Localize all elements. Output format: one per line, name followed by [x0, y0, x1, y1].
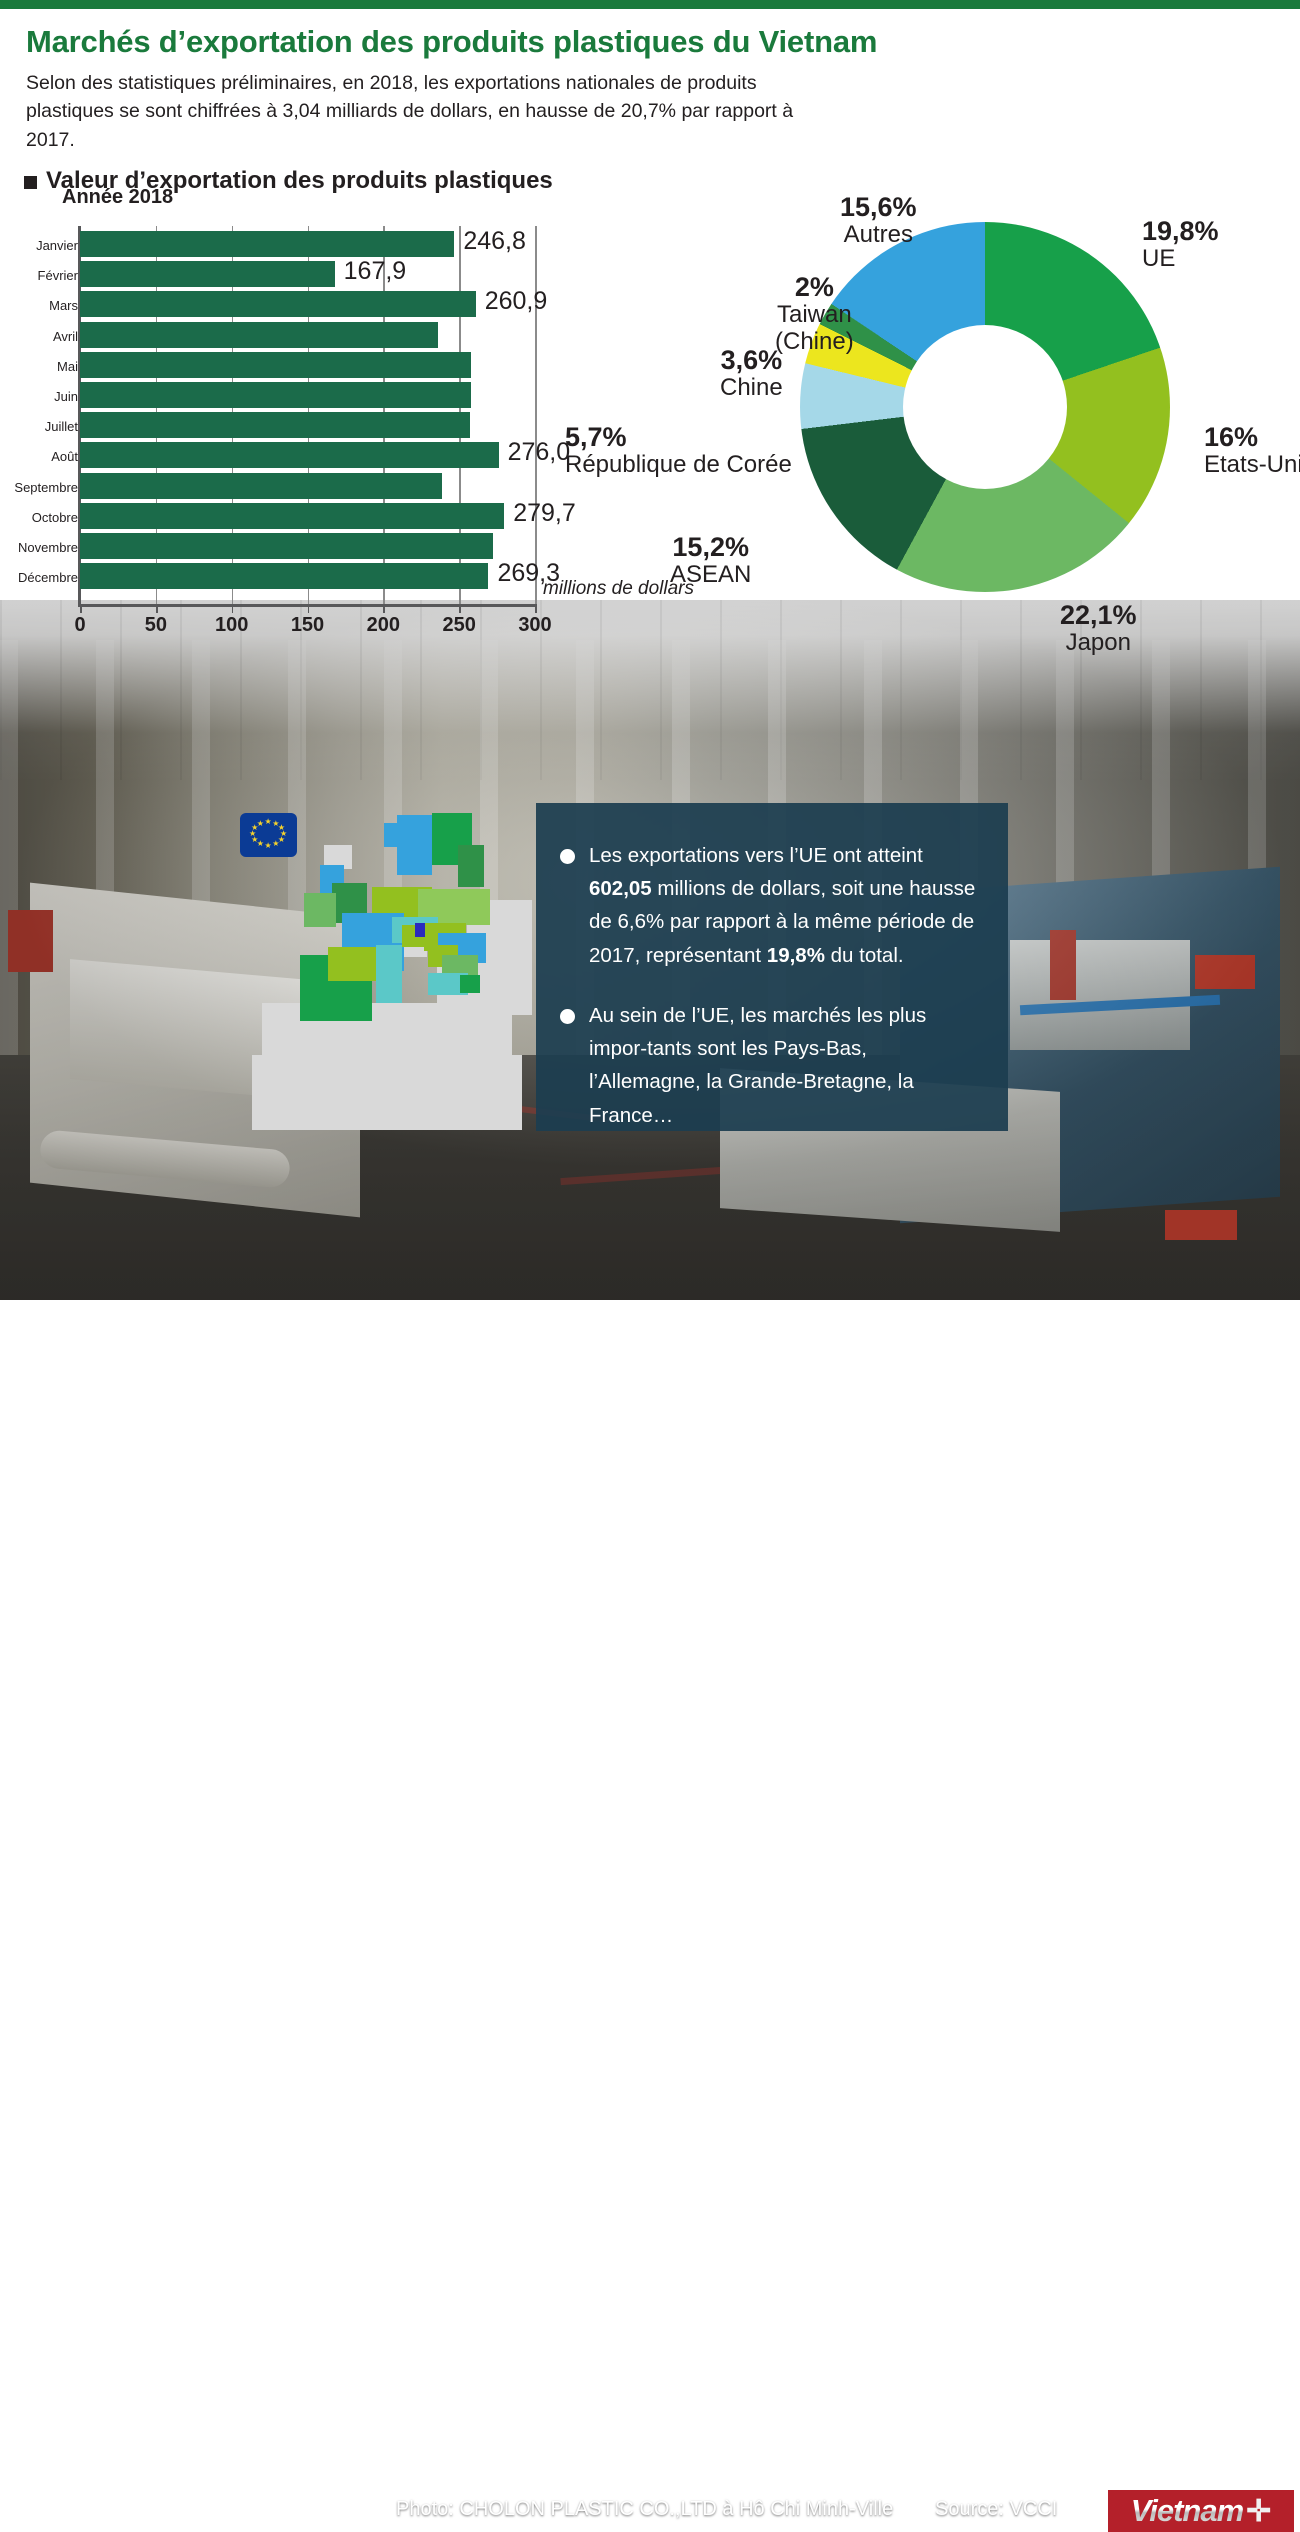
bar-category-label: Décembre	[18, 570, 78, 585]
bar-rect	[80, 261, 335, 287]
bar-chart-bar	[80, 412, 535, 438]
donut-slice-label: Autres	[840, 222, 917, 249]
bar-chart-bar	[80, 563, 535, 589]
bar-category-label: Janvier	[36, 238, 78, 253]
bar-chart-bar	[80, 473, 535, 499]
map-landmass	[252, 1055, 522, 1130]
eu-flag-star-icon: ★	[265, 818, 272, 826]
bar-rect	[80, 231, 454, 257]
donut-slice-percent: 15,2%	[670, 532, 751, 562]
donut-slice-label: Chine	[720, 375, 783, 402]
note-item: Au sein de l’UE, les marchés les plus im…	[536, 999, 1008, 1132]
bar-chart-tick	[383, 604, 385, 613]
bar-chart-plot	[80, 226, 535, 604]
bar-category-label: Septembre	[14, 480, 78, 495]
map-country	[376, 945, 402, 1003]
eu-flag-star-icon: ★	[272, 840, 279, 848]
bar-category-label: Février	[38, 268, 78, 283]
eu-flag-star-icon: ★	[265, 842, 272, 850]
bar-chart-bar	[80, 261, 535, 287]
bar-rect	[80, 473, 442, 499]
bar-category-label: Novembre	[18, 540, 78, 555]
donut-slice-percent: 15,6%	[840, 192, 917, 222]
bar-category-label: Octobre	[32, 510, 78, 525]
bar-chart-tick-label: 300	[518, 614, 551, 637]
map-country	[415, 923, 425, 937]
bar-chart-bar	[80, 291, 535, 317]
bar-chart-tick	[232, 604, 234, 613]
bar-value-label: 269,3	[497, 559, 560, 588]
bar-rect	[80, 563, 488, 589]
donut-slice-percent: 19,8%	[1142, 216, 1219, 246]
donut-center-hole	[903, 325, 1067, 489]
footer: Photo: CHOLON PLASTIC CO.,LTD à Hô Chi M…	[0, 1240, 1300, 1300]
bar-rect	[80, 503, 504, 529]
note-text: Au sein de l’UE, les marchés les plus im…	[589, 999, 982, 1132]
donut-label-group: 15,6%Autres	[840, 192, 917, 249]
logo-wordmark: Vietnam	[1131, 2493, 1243, 2529]
note-text: Les exportations vers l’UE ont atteint 6…	[589, 839, 982, 972]
bar-chart-tick-label: 200	[367, 614, 400, 637]
bar-value-label: 167,9	[344, 257, 407, 286]
note-item: Les exportations vers l’UE ont atteint 6…	[536, 839, 1008, 972]
donut-label-group: 15,2%ASEAN	[670, 532, 751, 589]
bullet-icon	[560, 1009, 575, 1024]
bar-chart-tick	[535, 604, 537, 613]
donut-slice-label: Taiwan(Chine)	[775, 302, 854, 356]
europe-map: ★★★★★★★★★★★★	[232, 805, 532, 1130]
donut-slice-label: République de Corée	[565, 452, 792, 479]
page-title: Marchés d’exportation des produits plast…	[0, 9, 1300, 59]
bar-category-label: Juin	[54, 389, 78, 404]
bar-chart-tick-label: 100	[215, 614, 248, 637]
donut-slice-label: UE	[1142, 246, 1219, 273]
photo-credit: Photo: CHOLON PLASTIC CO.,LTD à Hô Chi M…	[396, 2498, 893, 2521]
bar-chart-tick-label: 150	[291, 614, 324, 637]
bar-chart-bar	[80, 322, 535, 348]
notes-panel: Les exportations vers l’UE ont atteint 6…	[536, 803, 1008, 1131]
donut-label-group: 22,1%Japon	[1060, 600, 1137, 657]
bar-category-label: Juillet	[45, 419, 78, 434]
bar-category-label: Mai	[57, 359, 78, 374]
donut-label-group: 19,8%UE	[1142, 216, 1219, 273]
bar-rect	[80, 291, 476, 317]
donut-chart: 19,8%UE16%Etats-Uni22,1%Japon15,2%ASEAN5…	[800, 222, 1170, 592]
eu-flag-star-icon: ★	[257, 820, 264, 828]
bar-rect	[80, 322, 438, 348]
map-country	[460, 975, 480, 993]
eu-flag-icon: ★★★★★★★★★★★★	[240, 813, 297, 857]
bar-value-label: 279,7	[513, 499, 576, 528]
bar-value-label: 276,0	[508, 438, 571, 467]
source-label: Source: VCCI	[935, 2498, 1057, 2521]
donut-label-group: 5,7%République de Corée	[565, 422, 792, 479]
map-country	[328, 947, 376, 981]
donut-slice-percent: 16%	[1204, 422, 1300, 452]
bar-chart-tick-label: 0	[74, 614, 85, 637]
bar-chart-tick-label: 50	[145, 614, 167, 637]
donut-slice-percent: 22,1%	[1060, 600, 1137, 630]
bar-chart-tick-label: 250	[442, 614, 475, 637]
map-country	[384, 823, 404, 847]
donut-label-group: 2%Taiwan(Chine)	[775, 272, 854, 356]
bar-chart-tick	[459, 604, 461, 613]
logo-plus-icon: ✛	[1246, 2494, 1271, 2529]
donut-label-group: 3,6%Chine	[720, 345, 783, 402]
map-country	[458, 845, 484, 887]
bar-rect	[80, 352, 471, 378]
map-landmass	[490, 900, 532, 946]
map-country	[304, 893, 336, 927]
bar-chart-bar	[80, 503, 535, 529]
bar-rect	[80, 412, 470, 438]
bar-category-label: Avril	[53, 329, 78, 344]
bar-value-label: 246,8	[463, 227, 526, 256]
bullet-icon	[560, 849, 575, 864]
bar-rect	[80, 533, 493, 559]
vietnamplus-logo[interactable]: Vietnam ✛	[1108, 2490, 1294, 2532]
bar-chart-title: Année 2018	[62, 186, 173, 209]
donut-slice-percent: 5,7%	[565, 422, 792, 452]
bar-chart-tick	[156, 604, 158, 613]
donut-slice-percent: 2%	[775, 272, 854, 302]
bar-chart-bar	[80, 442, 535, 468]
bar-category-label: Mars	[49, 298, 78, 313]
header: Marchés d’exportation des produits plast…	[0, 9, 1300, 195]
donut-slice-percent: 3,6%	[720, 345, 783, 375]
bar-rect	[80, 442, 499, 468]
donut-slice-label: Japon	[1060, 630, 1137, 657]
bar-rect	[80, 382, 471, 408]
intro-paragraph: Selon des statistiques préliminaires, en…	[0, 59, 836, 154]
bar-chart-bar	[80, 352, 535, 378]
bar-chart-bar	[80, 382, 535, 408]
top-accent-bar	[0, 0, 1300, 9]
bar-category-label: Août	[51, 449, 78, 464]
bar-chart-tick	[80, 604, 82, 613]
bar-chart-tick	[308, 604, 310, 613]
donut-slice-label: ASEAN	[670, 562, 751, 589]
bar-chart-bar	[80, 533, 535, 559]
bar-value-label: 260,9	[485, 287, 548, 316]
donut-label-group: 16%Etats-Uni	[1204, 422, 1300, 479]
donut-slice-label: Etats-Uni	[1204, 452, 1300, 479]
bar-chart-gridline	[535, 226, 537, 604]
